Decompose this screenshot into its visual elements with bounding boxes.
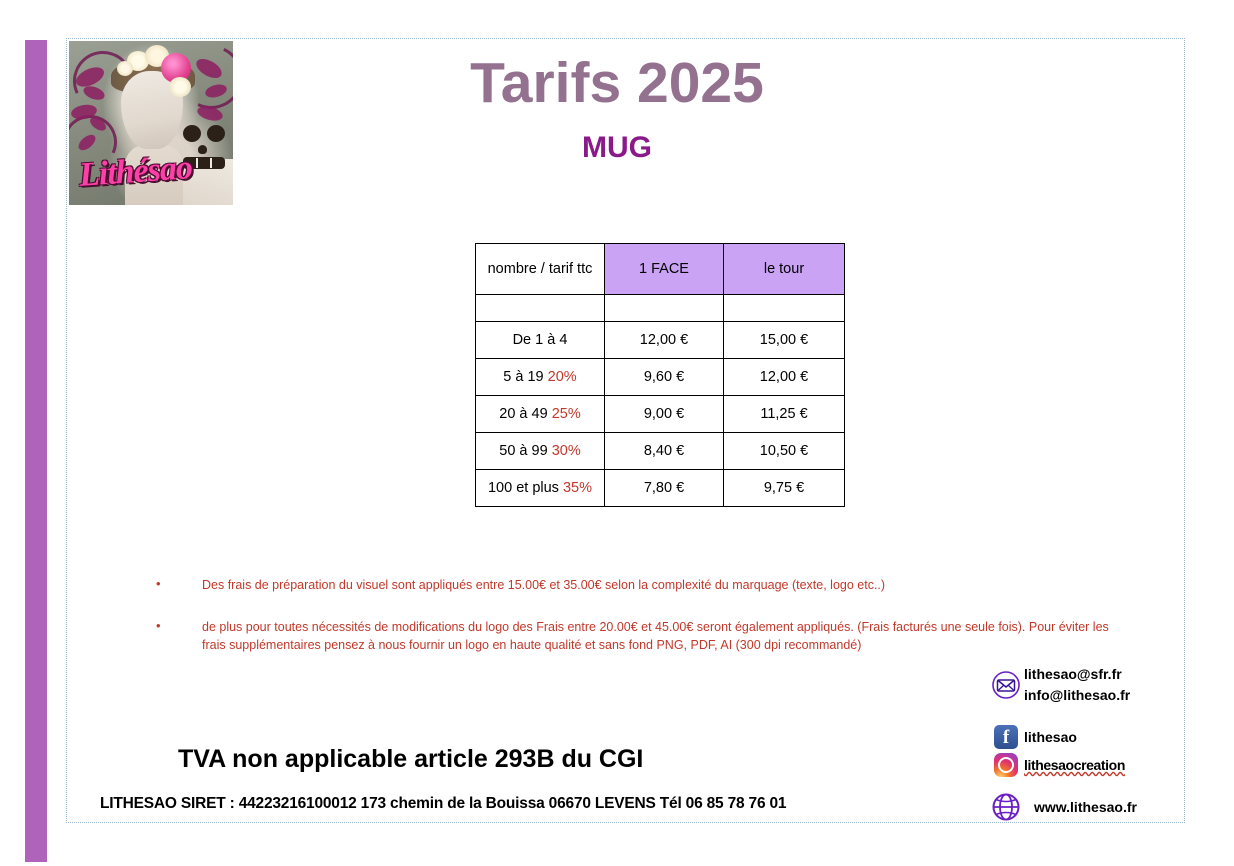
table-row: 20 à 49 25% 9,00 € 11,25 € xyxy=(476,396,845,433)
website-link[interactable]: www.lithesao.fr xyxy=(1034,799,1137,815)
quantity-label: 100 et plus xyxy=(488,480,559,496)
cell-price-one-face: 9,00 € xyxy=(605,396,724,433)
email-group: lithesao@sfr.fr info@lithesao.fr xyxy=(988,666,1218,703)
table-row: De 1 à 4 12,00 € 15,00 € xyxy=(476,322,845,359)
quantity-label: 50 à 99 xyxy=(499,443,547,459)
cell-price-le-tour: 10,50 € xyxy=(724,433,845,470)
contact-block: lithesao@sfr.fr info@lithesao.fr f lithe… xyxy=(988,666,1218,823)
quantity-label: De 1 à 4 xyxy=(513,332,568,348)
cell-quantity: 5 à 19 20% xyxy=(476,359,605,396)
discount-badge: 25% xyxy=(552,406,581,422)
quantity-label: 5 à 19 xyxy=(503,369,543,385)
table-header-row: nombre / tarif ttc 1 FACE le tour xyxy=(476,244,845,295)
table-row: 100 et plus 35% 7,80 € 9,75 € xyxy=(476,470,845,507)
facebook-handle[interactable]: lithesao xyxy=(1024,729,1077,745)
header-cell-quantity: nombre / tarif ttc xyxy=(476,244,605,295)
page-title: Tarifs 2025 xyxy=(0,50,1234,116)
instagram-icon[interactable] xyxy=(988,753,1024,777)
list-item: • Des frais de préparation du visuel son… xyxy=(156,576,1116,594)
cell-price-one-face: 12,00 € xyxy=(605,322,724,359)
cell-quantity: 100 et plus 35% xyxy=(476,470,605,507)
cell-price-one-face: 8,40 € xyxy=(605,433,724,470)
cell-quantity: 50 à 99 30% xyxy=(476,433,605,470)
email-link-secondary[interactable]: info@lithesao.fr xyxy=(1024,687,1130,703)
note-text: de plus pour toutes nécessités de modifi… xyxy=(202,618,1116,654)
facebook-row[interactable]: f lithesao xyxy=(988,725,1125,749)
header-cell-one-face: 1 FACE xyxy=(605,244,724,295)
email-lines: lithesao@sfr.fr info@lithesao.fr xyxy=(1024,666,1130,703)
instagram-handle[interactable]: lithesaocreation xyxy=(1024,757,1125,773)
table-spacer-row xyxy=(476,295,845,322)
cell-price-one-face: 9,60 € xyxy=(605,359,724,396)
social-group: f lithesao lithesaocreation xyxy=(988,725,1218,777)
globe-icon xyxy=(988,791,1024,823)
note-text: Des frais de préparation du visuel sont … xyxy=(202,576,1116,594)
social-lines: f lithesao lithesaocreation xyxy=(988,725,1125,777)
header-cell-le-tour: le tour xyxy=(724,244,845,295)
instagram-row[interactable]: lithesaocreation xyxy=(988,753,1125,777)
facebook-icon[interactable]: f xyxy=(988,725,1024,749)
spacer-cell xyxy=(476,295,605,322)
cell-price-le-tour: 11,25 € xyxy=(724,396,845,433)
discount-badge: 20% xyxy=(548,369,577,385)
page-subtitle: MUG xyxy=(0,131,1234,165)
bullet-dot-icon: • xyxy=(156,576,202,594)
cell-price-le-tour: 15,00 € xyxy=(724,322,845,359)
table-row: 5 à 19 20% 9,60 € 12,00 € xyxy=(476,359,845,396)
tva-notice: TVA non applicable article 293B du CGI xyxy=(178,745,643,774)
spacer-cell xyxy=(605,295,724,322)
discount-badge: 30% xyxy=(552,443,581,459)
spacer-cell xyxy=(724,295,845,322)
quantity-label: 20 à 49 xyxy=(499,406,547,422)
notes-list: • Des frais de préparation du visuel son… xyxy=(156,576,1116,678)
bullet-dot-icon: • xyxy=(156,618,202,654)
siret-line: LITHESAO SIRET : 44223216100012 173 chem… xyxy=(100,795,786,813)
cell-price-le-tour: 9,75 € xyxy=(724,470,845,507)
cell-quantity: De 1 à 4 xyxy=(476,322,605,359)
cell-price-le-tour: 12,00 € xyxy=(724,359,845,396)
email-link-primary[interactable]: lithesao@sfr.fr xyxy=(1024,666,1130,682)
list-item: • de plus pour toutes nécessités de modi… xyxy=(156,618,1116,654)
table-row: 50 à 99 30% 8,40 € 10,50 € xyxy=(476,433,845,470)
price-table: nombre / tarif ttc 1 FACE le tour De 1 à… xyxy=(475,243,845,507)
cell-price-one-face: 7,80 € xyxy=(605,470,724,507)
website-group: www.lithesao.fr xyxy=(988,791,1218,823)
discount-badge: 35% xyxy=(563,480,592,496)
cell-quantity: 20 à 49 25% xyxy=(476,396,605,433)
envelope-icon xyxy=(988,670,1024,700)
